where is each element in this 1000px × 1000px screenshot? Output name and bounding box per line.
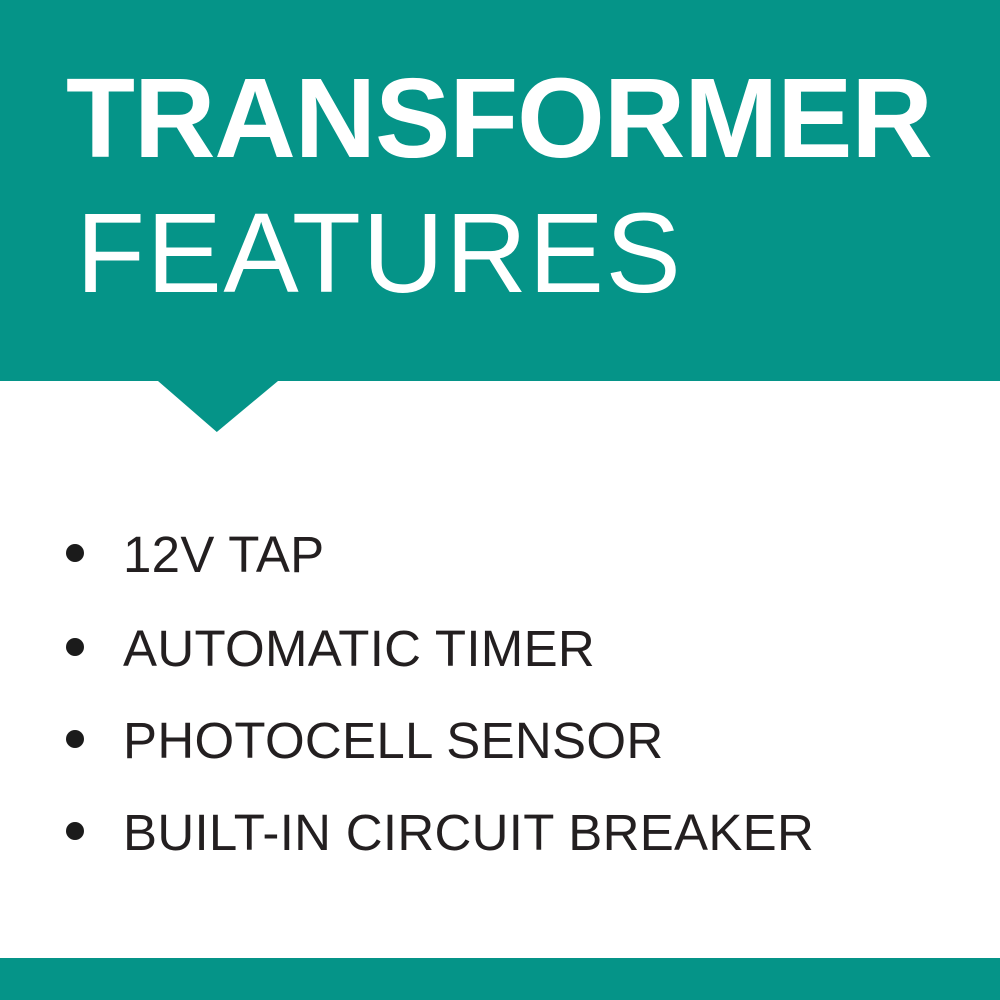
- list-item: PHOTOCELL SENSOR: [66, 711, 663, 767]
- bullet-dot-icon: [66, 822, 84, 840]
- bullet-dot-icon: [66, 730, 84, 748]
- page-title-primary: TRANSFORMER: [66, 62, 932, 175]
- feature-label: AUTOMATIC TIMER: [123, 623, 595, 674]
- feature-label: PHOTOCELL SENSOR: [123, 715, 663, 766]
- header-notch-triangle-icon: [158, 381, 278, 432]
- bullet-dot-icon: [66, 638, 84, 656]
- list-item: 12V TAP: [66, 525, 325, 581]
- page-title-secondary: FEATURES: [76, 197, 682, 310]
- footer-accent-bar: [0, 958, 1000, 1000]
- infographic-canvas: TRANSFORMER FEATURES 12V TAP AUTOMATIC T…: [0, 0, 1000, 1000]
- feature-label: 12V TAP: [123, 529, 325, 580]
- list-item: AUTOMATIC TIMER: [66, 619, 595, 675]
- list-item: BUILT-IN CIRCUIT BREAKER: [66, 803, 814, 859]
- bullet-dot-icon: [66, 544, 84, 562]
- feature-label: BUILT-IN CIRCUIT BREAKER: [123, 807, 814, 858]
